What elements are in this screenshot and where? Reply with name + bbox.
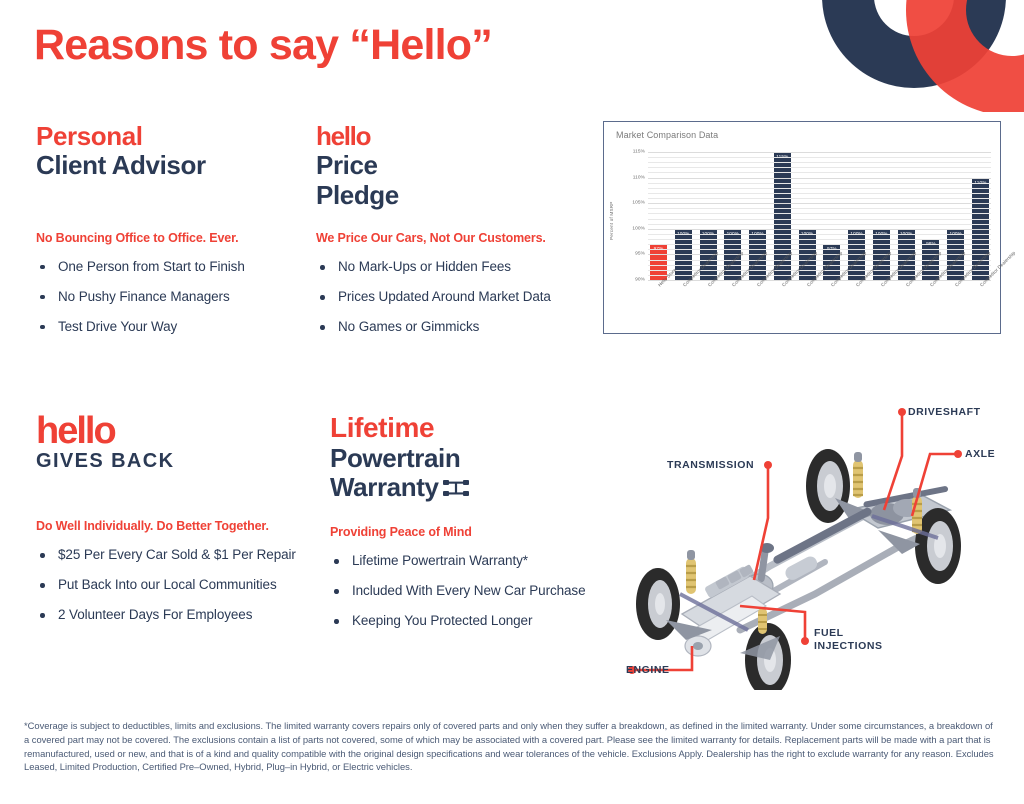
feature-tagline: Do Well Individually. Do Better Together… [36,519,321,533]
chart-gridline [648,183,991,184]
chart-x-label-slot: Competitor Dealership [922,282,939,330]
feature-title: Lifetime Powertrain Warranty [330,412,615,502]
feature-tagline: Providing Peace of Mind [330,525,615,539]
feature-title-line-1: Price [316,151,601,180]
chart-gridline [648,244,991,245]
callout-fuel-injections: FUEL INJECTIONS [814,627,883,653]
feature-title-line-3: Warranty [330,473,439,502]
decorative-rings [780,0,1024,112]
chart-gridline [648,203,991,204]
feature-bullet-list: $25 Per Every Car Sold & $1 Per Repair P… [36,547,321,622]
chart-y-tick: 95% [635,252,645,257]
feature-title-line-1: Personal [36,122,321,151]
chart-y-axis-label: Percent of MSRP [609,202,614,241]
chart-gridline [648,260,991,261]
chart-x-label-slot: Competitor Dealership [898,282,915,330]
callout-driveshaft: DRIVESHAFT [908,406,981,419]
chart-gridline [648,208,991,209]
chart-title: Market Comparison Data [616,130,718,140]
chart-x-label-slot: Competitor Dealership [848,282,865,330]
feature-bullet-list: No Mark-Ups or Hidden Fees Prices Update… [316,259,601,334]
footer-disclaimer: *Coverage is subject to deductibles, lim… [24,719,999,774]
chart-gridline [648,239,991,240]
feature-hello-gives-back: hello GIVES BACK Do Well Individually. D… [36,412,321,637]
hello-logo-wordmark: hello [36,412,321,450]
list-item: No Mark-Ups or Hidden Fees [316,259,601,274]
feature-subtitle: GIVES BACK [36,450,321,473]
feature-personal-client-advisor: Personal Client Advisor No Bouncing Offi… [36,122,321,349]
chart-bar-slot: 97% [650,152,667,280]
rings-svg [780,0,1024,112]
red-ring-icon [906,0,1024,112]
feature-title: hello GIVES BACK [36,412,321,473]
chart-y-tick: 110% [633,175,645,180]
chart-x-label-slot: Competitor Dealership [947,282,964,330]
chart-gridline [648,193,991,194]
feature-bullet-list: Lifetime Powertrain Warranty* Included W… [330,553,615,628]
feature-tagline: No Bouncing Office to Office. Ever. [36,231,321,245]
feature-title: Personal Client Advisor [36,122,321,181]
callout-engine: ENGINE [626,664,670,677]
chart-gridline [648,213,991,214]
chart-gridline [648,219,991,220]
list-item: No Pushy Finance Managers [36,289,321,304]
chart-x-axis-labels: Hello StoreCompetitor DealershipCompetit… [648,282,991,330]
chart-x-label-slot: Competitor Dealership [799,282,816,330]
market-comparison-chart: Market Comparison Data Percent of MSRP 9… [603,121,1001,334]
chart-x-label-slot: Competitor Dealership [972,282,989,330]
chart-x-label-slot: Competitor Dealership [823,282,840,330]
chart-x-label-slot: Competitor Dealership [873,282,890,330]
chart-y-tick: 100% [632,226,645,231]
chart-gridline [648,172,991,173]
chart-y-tick: 105% [632,201,645,206]
chart-plot-area: 97%100%100%100%100%115%100%97%100%100%10… [648,152,991,280]
chart-y-tick: 90% [635,278,645,283]
feature-title-line-2: Pledge [316,181,601,210]
list-item: Test Drive Your Way [36,319,321,334]
chart-gridline [648,152,991,153]
chart-gridline [648,224,991,225]
feature-bullet-list: One Person from Start to Finish No Pushy… [36,259,321,334]
chassis-icon [442,478,470,498]
list-item: Prices Updated Around Market Data [316,289,601,304]
list-item: No Games or Gimmicks [316,319,601,334]
feature-lifetime-powertrain-warranty: Lifetime Powertrain Warranty Pro [330,412,615,643]
chart-x-label-slot: Competitor Dealership [724,282,741,330]
chart-x-label-slot: Competitor Dealership [749,282,766,330]
chart-gridline [648,167,991,168]
chart-gridline [648,162,991,163]
feature-title-line-2: Client Advisor [36,151,321,180]
navy-ring-icon [822,0,1006,88]
feature-title: hello Price Pledge [316,122,601,210]
chart-x-label-slot: Competitor Dealership [774,282,791,330]
chart-x-label-slot: Competitor Dealership [675,282,692,330]
chart-gridline [648,178,991,179]
chart-x-label-slot: Competitor Dealership [700,282,717,330]
car-chassis-powertrain-diagram: DRIVESHAFT AXLE TRANSMISSION FUEL INJECT… [620,398,1016,690]
chart-gridline [648,234,991,235]
chart-gridline [648,188,991,189]
list-item: Put Back Into our Local Communities [36,577,321,592]
chart-gridline [648,229,991,230]
page-title: Reasons to say “Hello” [34,22,492,69]
list-item: Keeping You Protected Longer [330,613,615,628]
feature-tagline: We Price Our Cars, Not Our Customers. [316,231,601,245]
feature-title-line-2: Powertrain [330,444,615,473]
list-item: $25 Per Every Car Sold & $1 Per Repair [36,547,321,562]
callout-transmission: TRANSMISSION [667,459,754,472]
list-item: Included With Every New Car Purchase [330,583,615,598]
hello-logo-wordmark: hello [316,122,601,151]
chart-bar-slot: 100% [675,152,692,280]
callout-axle: AXLE [965,448,995,461]
list-item: One Person from Start to Finish [36,259,321,274]
chart-y-tick: 115% [633,150,645,155]
marketing-one-pager: Reasons to say “Hello” Personal Client A… [0,0,1024,804]
chart-gridline [648,198,991,199]
feature-title-line-3-row: Warranty [330,473,615,502]
list-item: Lifetime Powertrain Warranty* [330,553,615,568]
chart-x-label-slot: Hello Store [650,282,667,330]
chart-gridline [648,157,991,158]
feature-hello-price-pledge: hello Price Pledge We Price Our Cars, No… [316,122,601,349]
feature-title-line-1: Lifetime [330,412,615,444]
list-item: 2 Volunteer Days For Employees [36,607,321,622]
chart-bars: 97%100%100%100%100%115%100%97%100%100%10… [648,152,991,280]
